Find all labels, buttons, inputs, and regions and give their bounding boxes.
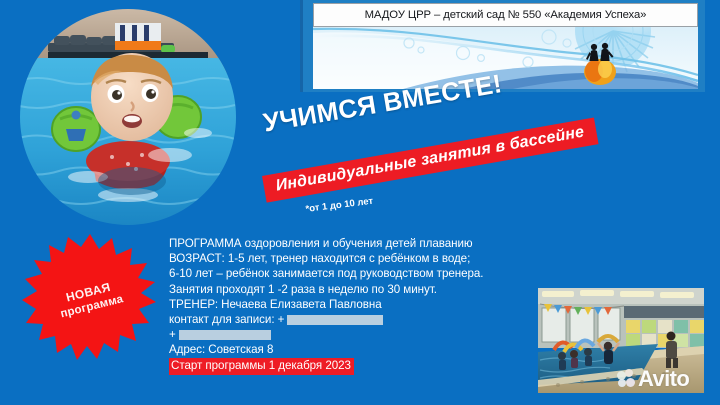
age-footnote: *от 1 до 10 лет	[305, 196, 374, 215]
blue-wave-decor-icon	[313, 27, 698, 89]
detail-line-age-1: ВОЗРАСТ: 1-5 лет, тренер находится с реб…	[169, 251, 529, 266]
contact-row-2: +	[169, 327, 529, 342]
child-swimming-with-armbands-photo	[20, 9, 236, 225]
detail-line-program: ПРОГРАММА оздоровления и обучения детей …	[169, 236, 529, 251]
contact-label: контакт для записи: +	[169, 312, 284, 327]
pool-lesson-photo	[538, 288, 704, 393]
organization-title: МАДОУ ЦРР – детский сад № 550 «Академия …	[365, 9, 647, 21]
detail-line-schedule: Занятия проходят 1 -2 раза в неделю по 3…	[169, 282, 529, 297]
indoor-pool-group-lesson-photo	[538, 288, 704, 393]
organization-title-box: МАДОУ ЦРР – детский сад № 550 «Академия …	[313, 3, 698, 27]
start-date-badge: Старт программы 1 декабря 2023	[169, 358, 354, 375]
starburst-icon	[22, 233, 158, 365]
detail-line-trainer: ТРЕНЕР: Нечаева Елизавета Павловна	[169, 297, 529, 312]
address-line: Адрес: Советская 8	[169, 342, 529, 357]
start-date-row: Старт программы 1 декабря 2023	[169, 358, 529, 375]
phone-redacted-bar-1	[287, 315, 383, 325]
detail-line-age-2: 6-10 лет – ребёнок занимается под руково…	[169, 266, 529, 281]
subtitle-text: Индивидуальные занятия в бассейне	[275, 124, 586, 195]
contact-row-1: контакт для записи: +	[169, 312, 529, 327]
child-swimming-photo	[20, 9, 236, 225]
contact-plus: +	[169, 327, 176, 342]
phone-redacted-bar-2	[179, 330, 271, 340]
program-details: ПРОГРАММА оздоровления и обучения детей …	[169, 236, 529, 375]
banner-decoration	[313, 27, 698, 89]
new-program-badge: НОВАЯ программа	[22, 233, 158, 365]
poster-canvas: МАДОУ ЦРР – детский сад № 550 «Академия …	[0, 0, 720, 405]
header-banner: МАДОУ ЦРР – детский сад № 550 «Академия …	[300, 0, 705, 92]
